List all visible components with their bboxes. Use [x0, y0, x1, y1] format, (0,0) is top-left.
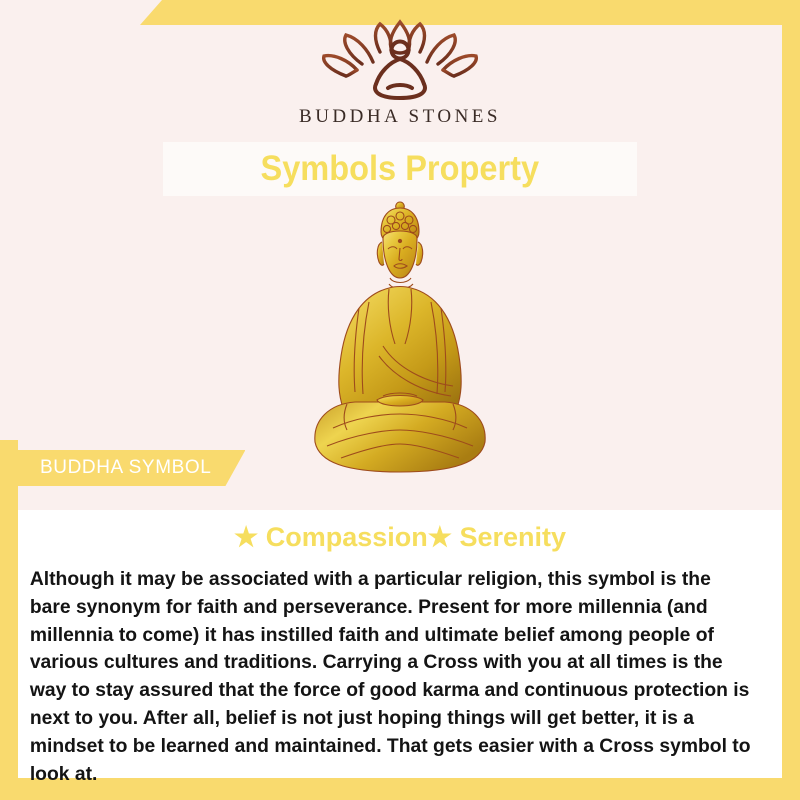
content-panel: ★ Compassion★ Serenity Although it may b… — [18, 510, 782, 778]
ribbon-label: BUDDHA SYMBOL — [40, 457, 211, 479]
lotus-meditation-icon — [310, 18, 490, 104]
poster-page: BUDDHA STONES Symbols Property — [0, 0, 800, 800]
title-banner: Symbols Property — [163, 142, 637, 196]
page-title: Symbols Property — [261, 149, 540, 189]
seated-buddha-icon — [285, 196, 515, 492]
content-paragraph: Although it may be associated with a par… — [18, 553, 771, 789]
section-ribbon: BUDDHA SYMBOL — [18, 450, 245, 486]
brand-logo: BUDDHA STONES — [0, 18, 800, 128]
brand-name: BUDDHA STONES — [299, 106, 501, 128]
content-subtitle: ★ Compassion★ Serenity — [18, 510, 782, 553]
